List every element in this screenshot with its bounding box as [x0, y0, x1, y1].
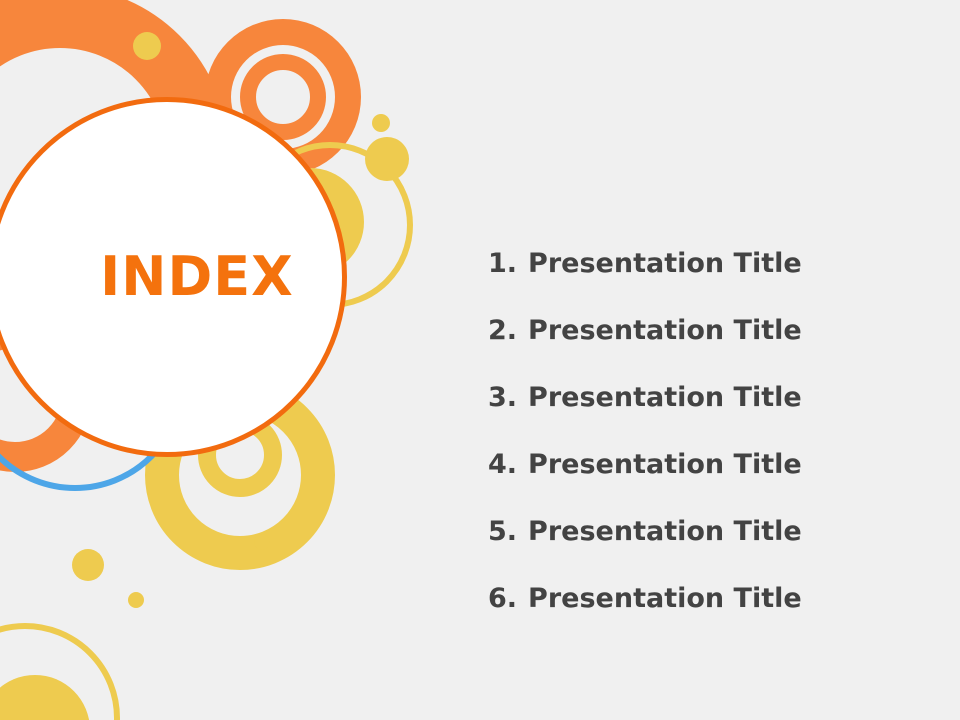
list-item-label: Presentation Title: [528, 583, 802, 614]
yellow-dot-medium-right-icon: [365, 137, 409, 181]
agenda-list: 1. Presentation Title 2. Presentation Ti…: [488, 248, 908, 650]
list-item-number: 6.: [488, 583, 517, 614]
yellow-disc-corner-icon: [0, 675, 90, 720]
yellow-dot-small-right-icon: [372, 114, 390, 132]
list-item-number: 1.: [488, 248, 517, 279]
list-item[interactable]: 5. Presentation Title: [488, 516, 908, 583]
page-title: INDEX: [40, 250, 294, 304]
list-item[interactable]: 1. Presentation Title: [488, 248, 908, 315]
list-item-number: 4.: [488, 449, 517, 480]
list-item-number: 3.: [488, 382, 517, 413]
list-item[interactable]: 2. Presentation Title: [488, 315, 908, 382]
list-item-label: Presentation Title: [528, 382, 802, 413]
list-item-number: 5.: [488, 516, 517, 547]
list-item-label: Presentation Title: [528, 315, 802, 346]
index-badge: INDEX: [0, 97, 347, 457]
list-item-number: 2.: [488, 315, 517, 346]
list-item-label: Presentation Title: [528, 248, 802, 279]
list-item[interactable]: 4. Presentation Title: [488, 449, 908, 516]
yellow-dot-top-icon: [133, 32, 161, 60]
list-item-label: Presentation Title: [528, 516, 802, 547]
presentation-slide: INDEX 1. Presentation Title 2. Presentat…: [0, 0, 960, 720]
list-item[interactable]: 3. Presentation Title: [488, 382, 908, 449]
yellow-dot-bottom-a-icon: [72, 549, 104, 581]
list-item[interactable]: 6. Presentation Title: [488, 583, 908, 650]
list-item-label: Presentation Title: [528, 449, 802, 480]
yellow-dot-bottom-b-icon: [128, 592, 144, 608]
yellow-dot-bottom-c-icon: [254, 534, 270, 550]
